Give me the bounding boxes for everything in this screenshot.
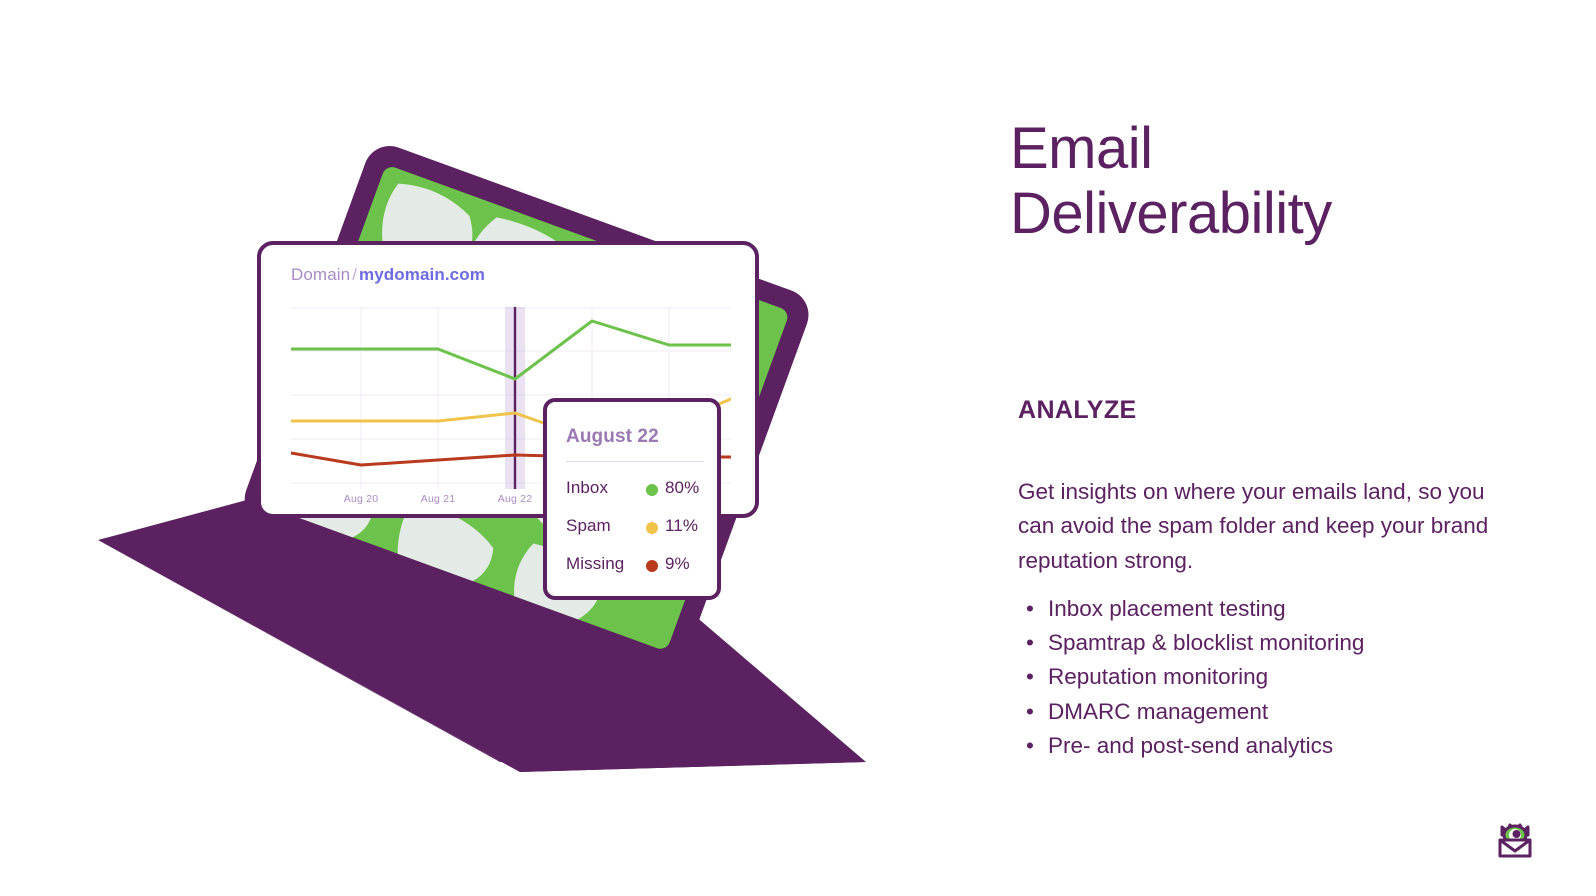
list-item-label: Reputation monitoring [1048, 664, 1268, 689]
feature-list: •Inbox placement testing •Spamtrap & blo… [1018, 592, 1518, 763]
tooltip-rows: Inbox 80% Spam 11% Missing 9% [566, 478, 716, 592]
logo-svg [1493, 818, 1537, 862]
tooltip-row-label: Missing [566, 554, 624, 574]
legend-dot-spam-icon [646, 522, 658, 534]
tooltip-row-value: 80% [665, 478, 699, 498]
headline-line-1: Email [1010, 116, 1153, 181]
list-item: •Spamtrap & blocklist monitoring [1018, 626, 1518, 660]
tooltip-row: Missing 9% [566, 554, 716, 592]
list-item: •Reputation monitoring [1018, 660, 1518, 694]
bullet-marker-icon: • [1026, 592, 1034, 626]
legend-dot-missing-icon [646, 560, 658, 572]
legend-dot-inbox-icon [646, 484, 658, 496]
headline-line-2: Deliverability [1010, 181, 1332, 246]
tooltip-row: Inbox 80% [566, 478, 716, 516]
list-item-label: Spamtrap & blocklist monitoring [1048, 630, 1364, 655]
list-item: •Inbox placement testing [1018, 592, 1518, 626]
tooltip-row-value: 9% [665, 554, 690, 574]
chart-tooltip: August 22 Inbox 80% Spam 11% Missing 9% [543, 398, 721, 600]
bullet-marker-icon: • [1026, 729, 1034, 763]
breadcrumb: Domain/mydomain.com [291, 265, 485, 285]
breadcrumb-current[interactable]: mydomain.com [359, 265, 485, 284]
section-description: Get insights on where your emails land, … [1018, 475, 1508, 579]
tooltip-row: Spam 11% [566, 516, 716, 554]
tooltip-divider [566, 461, 704, 462]
bullet-marker-icon: • [1026, 626, 1034, 660]
section-eyebrow: ANALYZE [1018, 396, 1137, 425]
list-item: •DMARC management [1018, 695, 1518, 729]
slide-root: Domain/mydomain.com [0, 0, 1596, 896]
x-tick-label: Aug 21 [421, 493, 455, 505]
tooltip-row-value: 11% [665, 516, 698, 536]
list-item-label: Inbox placement testing [1048, 596, 1286, 621]
page-title: EmailDeliverability [1010, 117, 1530, 247]
x-tick-label: Aug 20 [344, 493, 378, 505]
x-tick-label: Aug 22 [498, 493, 532, 505]
list-item: •Pre- and post-send analytics [1018, 729, 1518, 763]
bullet-marker-icon: • [1026, 660, 1034, 694]
list-item-label: Pre- and post-send analytics [1048, 733, 1333, 758]
mailgun-monster-envelope-logo-icon [1493, 818, 1537, 862]
list-item-label: DMARC management [1048, 699, 1268, 724]
bullet-marker-icon: • [1026, 695, 1034, 729]
breadcrumb-root[interactable]: Domain [291, 265, 350, 284]
tooltip-title: August 22 [566, 426, 659, 448]
breadcrumb-separator: / [350, 265, 359, 284]
tooltip-row-label: Inbox [566, 478, 608, 498]
content-column: EmailDeliverability ANALYZE Get insights… [1008, 0, 1568, 896]
tooltip-row-label: Spam [566, 516, 611, 536]
